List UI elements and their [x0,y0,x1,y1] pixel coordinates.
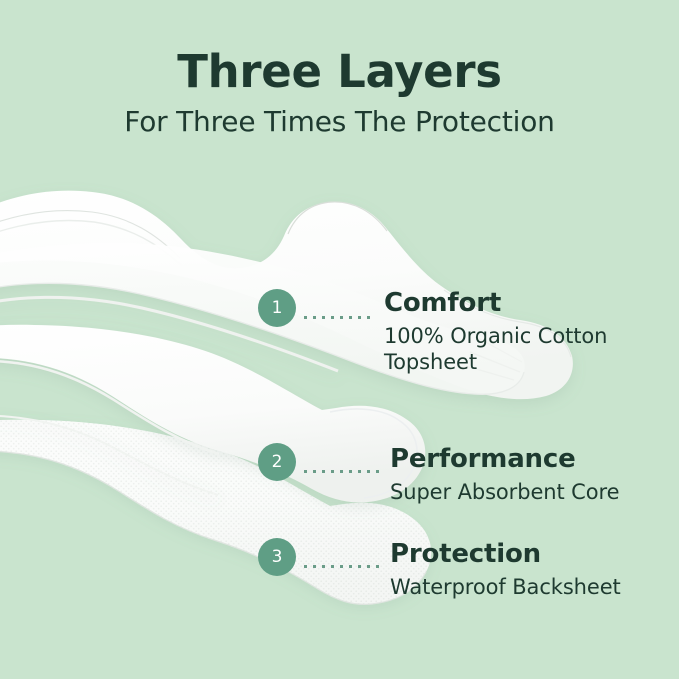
callout-1-description: 100% Organic Cotton Topsheet [384,318,668,376]
callout-3-marker-group: 3 [258,538,390,576]
callout-3-text: Protection Waterproof Backsheet [390,538,668,600]
callout-protection: 3 Protection Waterproof Backsheet [258,538,668,600]
callout-2-text: Performance Super Absorbent Core [390,443,668,505]
callout-2-title: Performance [390,445,668,474]
callout-2-marker-group: 2 [258,443,390,481]
layer-number-badge-2: 2 [258,443,296,481]
layer-number-badge-1: 1 [258,289,296,327]
callout-1-text: Comfort 100% Organic Cotton Topsheet [384,289,668,376]
callout-1-marker-group: 1 [258,289,384,327]
dotted-leader-line-1 [304,316,376,319]
dotted-leader-line-2 [304,470,382,473]
dotted-leader-line-3 [304,565,382,568]
callout-comfort: 1 Comfort 100% Organic Cotton Topsheet [258,289,668,376]
callout-3-title: Protection [390,540,668,569]
callout-3-description: Waterproof Backsheet [390,569,668,600]
callout-performance: 2 Performance Super Absorbent Core [258,443,668,505]
callout-1-title: Comfort [384,289,668,318]
callout-2-description: Super Absorbent Core [390,474,668,505]
layer-number-badge-3: 3 [258,538,296,576]
infographic-canvas: Three Layers For Three Times The Protect… [0,0,679,679]
